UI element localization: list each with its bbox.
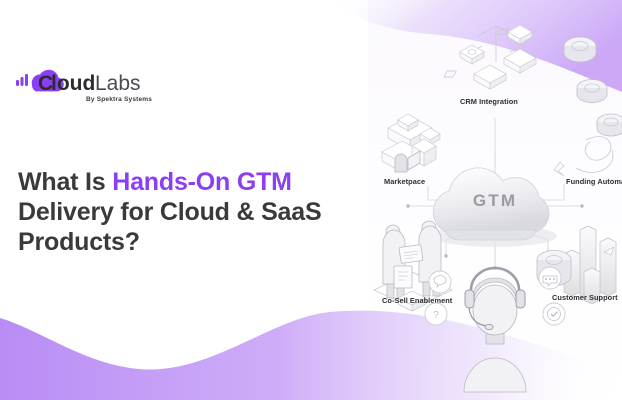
node-label-co-sell-enablement: Co-Sell Enablement: [382, 296, 453, 305]
support-agent-icon: [464, 268, 526, 392]
network-nodes-icon: [444, 25, 536, 89]
gtm-center-label: GTM: [473, 191, 517, 210]
marketplace-icon: [382, 114, 440, 172]
cloudlabs-logo[interactable]: C loud Labs By Spektra Systems: [16, 60, 156, 106]
svg-text:?: ?: [433, 310, 439, 321]
node-label-customer-support: Customer Support: [552, 293, 618, 302]
cloud-3d-icon: GTM: [433, 168, 557, 247]
gtm-ecosystem-illustration: CRM Integration Mar: [368, 0, 622, 400]
svg-text:By Spektra Systems: By Spektra Systems: [86, 96, 152, 103]
node-label-crm-integration: CRM Integration: [460, 97, 518, 106]
page-title: What Is Hands-On GTM Delivery for Cloud …: [18, 167, 348, 257]
svg-text:Labs: Labs: [95, 72, 141, 95]
node-label-marketplace: Marketpace: [384, 177, 425, 186]
headline-part-2: Delivery for Cloud & SaaS Products?: [18, 198, 321, 256]
headline-accent: Hands-On GTM: [112, 168, 292, 196]
node-label-funding-automation: Funding Automatio: [566, 177, 622, 186]
banner-left-content: C loud Labs By Spektra Systems What Is H…: [0, 0, 368, 400]
coins-arrows-icon: [554, 37, 622, 176]
hero-banner: C loud Labs By Spektra Systems What Is H…: [0, 0, 622, 400]
headline-part-1: What Is: [18, 168, 112, 196]
svg-text:loud: loud: [51, 72, 95, 95]
